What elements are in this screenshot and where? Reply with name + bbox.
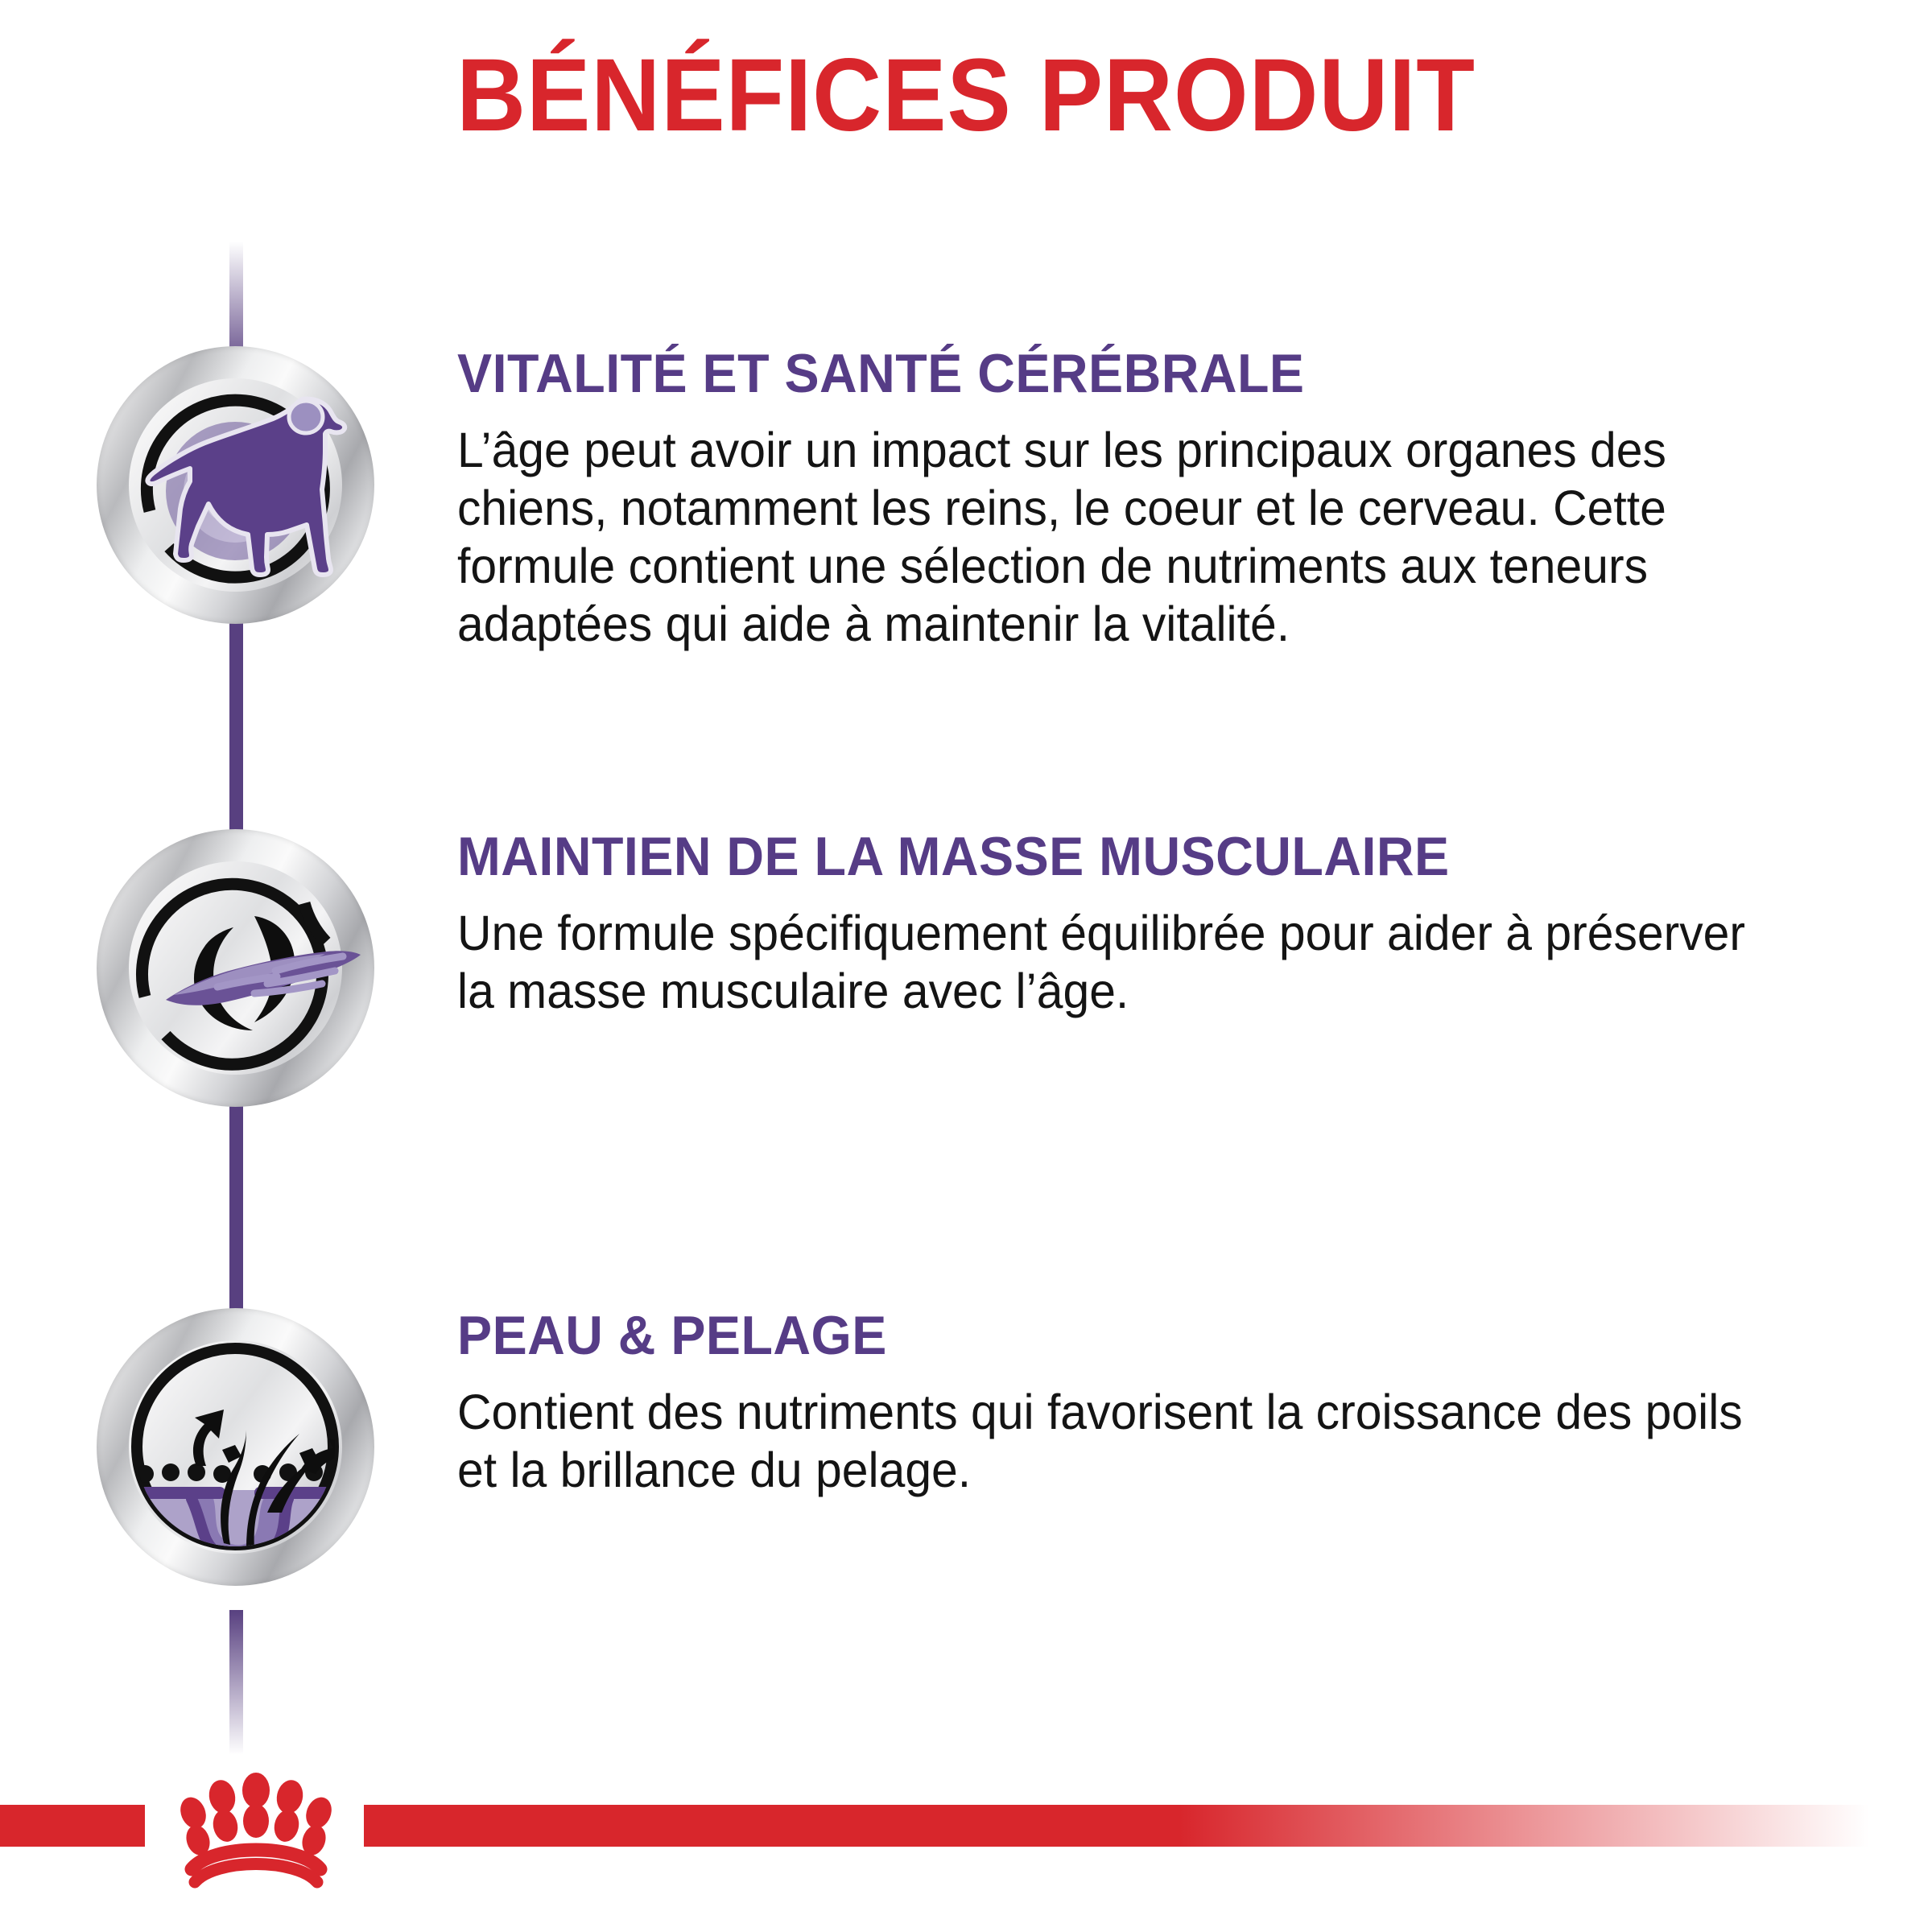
footer-bar [0,1805,1932,1853]
benefit-text-2: MAINTIEN DE LA MASSE MUSCULAIRE Une form… [457,829,1898,1021]
page-title: BÉNÉFICES PRODUIT [68,42,1864,150]
benefit-title-1: VITALITÉ ET SANTÉ CÉRÉBRALE [457,346,1827,401]
benefit-icon-wrapper-1 [97,346,374,624]
skin-coat-icon [97,1308,374,1586]
timeline-spine-middle-1 [229,612,243,845]
muscle-icon [97,829,374,1107]
benefit-title-2: MAINTIEN DE LA MASSE MUSCULAIRE [457,829,1827,884]
benefit-text-3: PEAU & PELAGE Contient des nutriments qu… [457,1308,1898,1500]
footer-bar-right-segment [364,1805,1932,1847]
benefit-body-1: L’âge peut avoir un impact sur les princ… [457,422,1794,654]
dog-icon [97,346,374,624]
benefit-title-3: PEAU & PELAGE [457,1308,1827,1363]
footer-bar-left-segment [0,1805,145,1847]
royal-canin-crown-logo [143,1766,369,1895]
benefit-text-1: VITALITÉ ET SANTÉ CÉRÉBRALE L’âge peut a… [457,346,1898,654]
timeline-spine-bottom [229,1610,243,1755]
benefit-icon-wrapper-2 [97,829,374,1107]
benefit-icon-wrapper-3 [97,1308,374,1586]
timeline-spine-middle-2 [229,1091,243,1324]
benefit-body-3: Contient des nutriments qui favorisent l… [457,1384,1794,1500]
benefit-body-2: Une formule spécifiquement équilibrée po… [457,905,1794,1021]
